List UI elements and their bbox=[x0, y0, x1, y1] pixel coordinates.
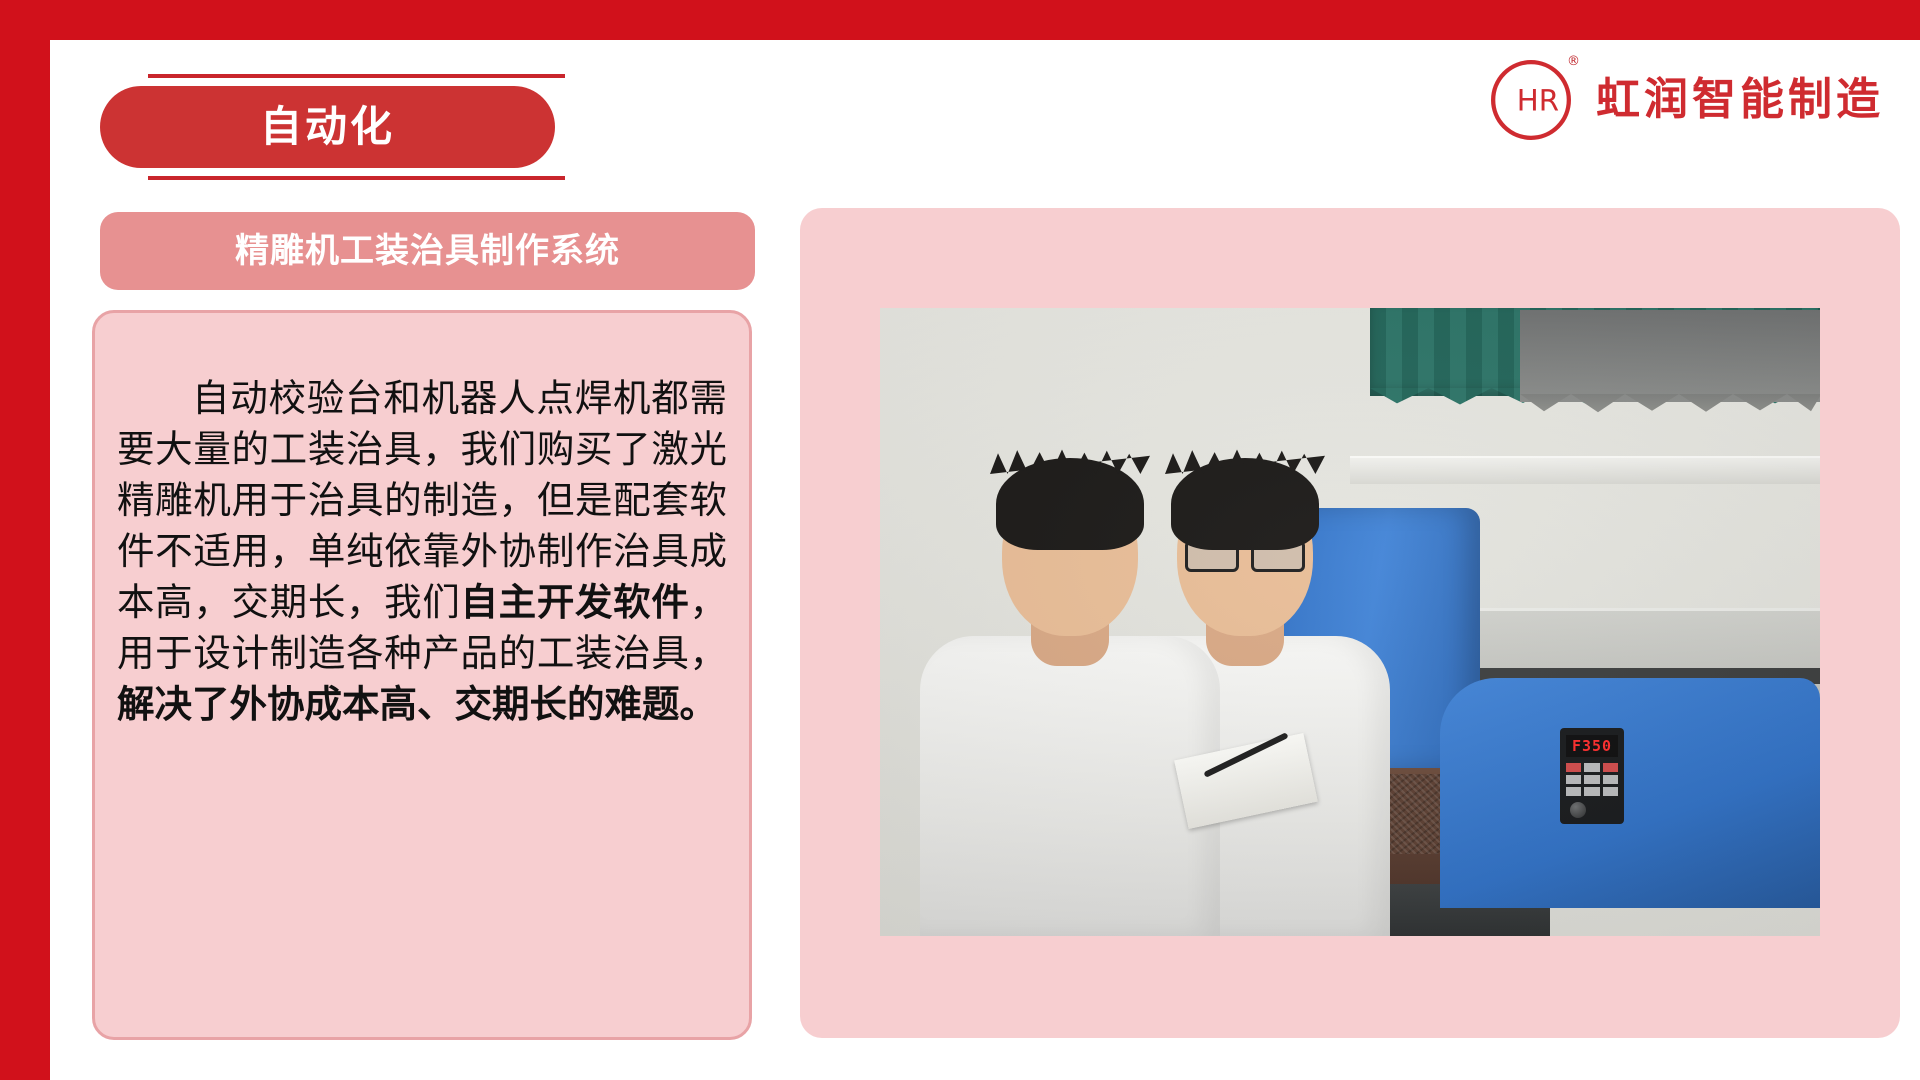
photo-grey-curtain-icon bbox=[1520, 310, 1820, 402]
photo-shelf bbox=[1350, 456, 1820, 484]
title-rule-top bbox=[148, 74, 565, 78]
frame-top-bar bbox=[0, 0, 1920, 40]
brand-name-text: 虹润智能制造 bbox=[1596, 78, 1884, 122]
frame-left-bar bbox=[0, 0, 50, 1080]
section-title-group: 自动化 bbox=[100, 74, 565, 180]
photo-keypad-icon bbox=[1566, 763, 1618, 796]
workshop-photo: F350 bbox=[880, 308, 1820, 936]
subtitle-text: 精雕机工装治具制作系统 bbox=[235, 234, 620, 268]
photo-p1-hair bbox=[996, 458, 1144, 550]
photo-control-panel: F350 bbox=[1560, 728, 1624, 824]
description-text: 自动校验台和机器人点焊机都需要大量的工装治具，我们购买了激光精雕机用于治具的制造… bbox=[117, 373, 727, 730]
photo-person-foreground bbox=[920, 516, 1220, 936]
photo-p1-shirt bbox=[920, 636, 1220, 936]
title-rule-bottom bbox=[148, 176, 565, 180]
description-panel: 自动校验台和机器人点焊机都需要大量的工装治具，我们购买了激光精雕机用于治具的制造… bbox=[92, 310, 752, 1040]
company-logo: HR ® 虹润智能制造 bbox=[1488, 55, 1884, 145]
subtitle-pill: 精雕机工装治具制作系统 bbox=[100, 212, 755, 290]
registered-trademark-icon: ® bbox=[1567, 55, 1580, 68]
photo-display-readout: F350 bbox=[1566, 735, 1618, 757]
photo-engraver-body bbox=[1440, 678, 1820, 908]
slide-root: 自动化 HR ® 虹润智能制造 精雕机工装治具制作系统 自动校验台和机器人点焊机… bbox=[0, 0, 1920, 1080]
section-title-pill: 自动化 bbox=[100, 86, 555, 168]
hr-logo-icon: HR ® bbox=[1488, 57, 1574, 143]
photo-knob-icon bbox=[1570, 802, 1586, 818]
desc-seg-2-bold: 自主开发软件 bbox=[461, 580, 690, 624]
desc-seg-4-bold: 解决了外协成本高、交期长的难题。 bbox=[117, 682, 717, 726]
svg-text:HR: HR bbox=[1517, 83, 1559, 117]
section-title-text: 自动化 bbox=[260, 106, 395, 148]
